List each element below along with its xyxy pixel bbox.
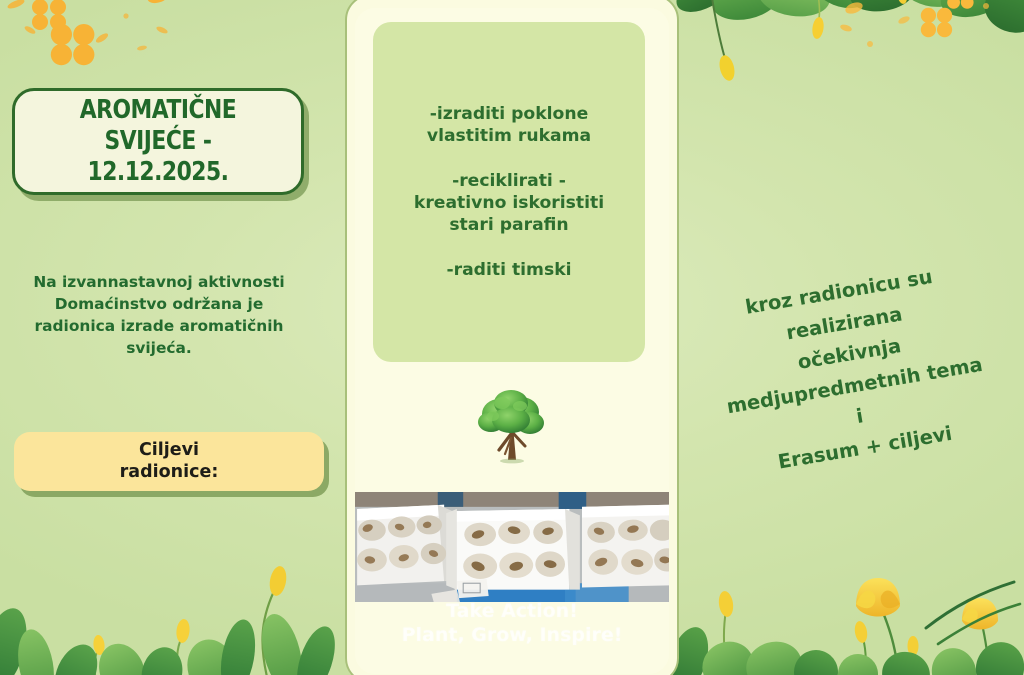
left-column: AROMATIČNE SVIJEĆE - 12.12.2025. Na izva… <box>0 0 345 675</box>
page-title: AROMATIČNE SVIJEĆE - 12.12.2025. <box>38 95 278 189</box>
candles-photo <box>355 492 669 602</box>
rotated-text-block: kroz radionicu su realizirana očekivnja … <box>688 252 1015 488</box>
right-column: kroz radionicu su realizirana očekivnja … <box>679 0 1024 675</box>
poster-canvas: AROMATIČNE SVIJEĆE - 12.12.2025. Na izva… <box>0 0 1024 675</box>
center-panel: -izraditi poklone vlastitim rukama -reci… <box>345 0 679 675</box>
goals-list-box: -izraditi poklone vlastitim rukama -reci… <box>373 22 645 362</box>
candles-photo-image <box>355 492 669 602</box>
center-panel-inner: -izraditi poklone vlastitim rukama -reci… <box>355 8 669 674</box>
intro-paragraph: Na izvannastavnoj aktivnosti Domaćinstvo… <box>14 272 304 360</box>
outcomes-text: kroz radionicu su realizirana očekivnja … <box>688 252 1015 488</box>
goals-heading-label: Ciljevi radionice: <box>120 440 219 483</box>
tree-icon <box>475 386 549 464</box>
goals-heading-card: Ciljevi radionice: <box>14 432 324 491</box>
photo-caption: Take Action! Plant, Grow, Inspire! <box>355 600 669 648</box>
title-card: AROMATIČNE SVIJEĆE - 12.12.2025. <box>12 88 304 195</box>
goals-list: -izraditi poklone vlastitim rukama -reci… <box>408 103 610 282</box>
